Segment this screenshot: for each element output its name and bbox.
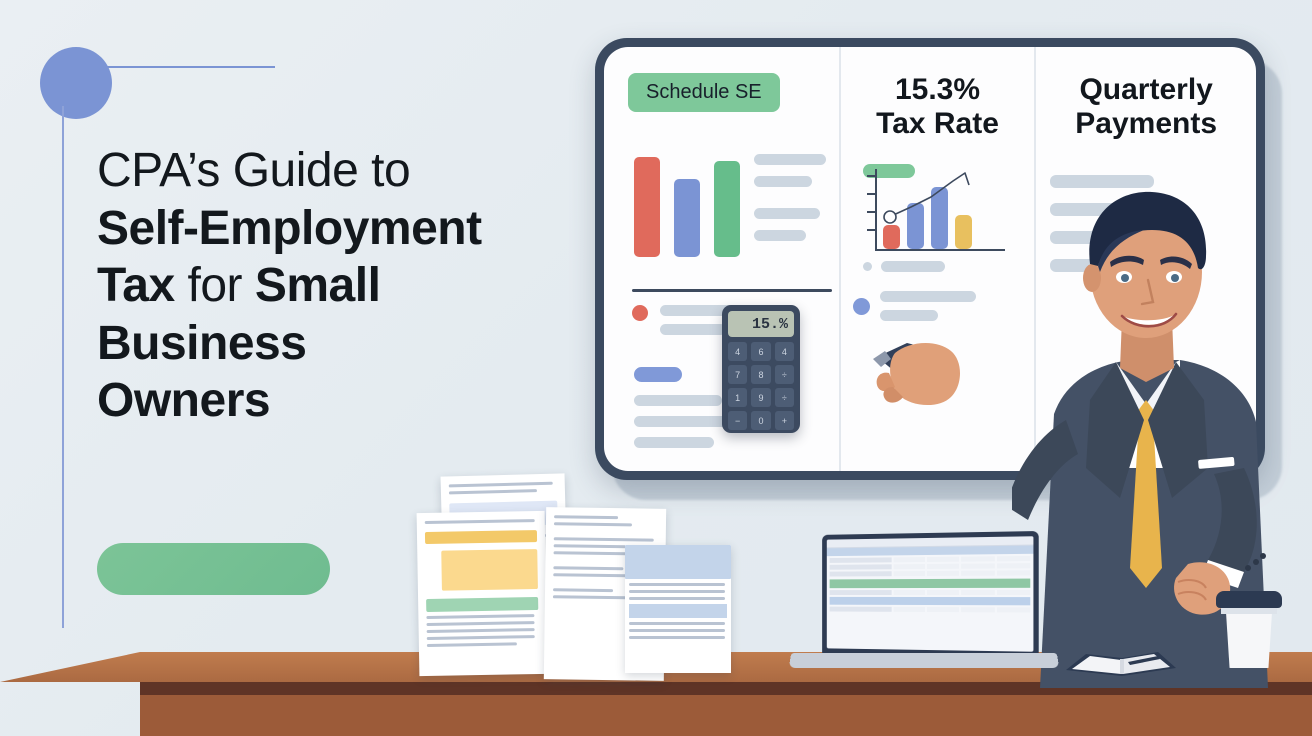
schedule-se-text-lines xyxy=(754,154,826,241)
title-line-5: Owners xyxy=(97,372,567,430)
bar-blue xyxy=(674,179,700,257)
placeholder-line xyxy=(427,628,535,633)
document-highlight-band xyxy=(425,530,537,544)
placeholder-line xyxy=(754,208,820,219)
placeholder-line xyxy=(754,230,806,241)
placeholder-line xyxy=(629,636,725,639)
tax-rate-line-2: Tax Rate xyxy=(876,107,999,140)
laptop-keyboard-base[interactable] xyxy=(789,653,1060,668)
placeholder-line xyxy=(634,395,722,406)
blue-dot-icon xyxy=(853,298,870,315)
laptop-display xyxy=(827,536,1034,651)
placeholder-line xyxy=(629,622,725,625)
title-line-3-a: Tax xyxy=(97,259,175,312)
bar-red xyxy=(634,157,660,257)
placeholder-line xyxy=(634,437,714,448)
calculator-key[interactable]: 1 xyxy=(728,388,747,407)
placeholder-line xyxy=(880,291,976,302)
quarterly-line-1: Quarterly xyxy=(1079,73,1212,106)
table-accent-row xyxy=(629,604,727,618)
tax-rate-caption-1 xyxy=(863,261,945,272)
calculator-key[interactable]: 6 xyxy=(751,342,770,361)
hand-with-marker-icon xyxy=(859,323,1009,433)
calculator-key[interactable]: 9 xyxy=(751,388,770,407)
calculator-key[interactable]: ÷ xyxy=(775,365,794,384)
placeholder-line xyxy=(754,154,826,165)
poster-canvas: CPA’s Guide to Self-Employment Tax for S… xyxy=(0,0,1312,736)
placeholder-line xyxy=(660,324,726,335)
placeholder-line xyxy=(427,635,535,640)
calculator-key[interactable]: + xyxy=(775,411,794,430)
calculator-key[interactable]: 0 xyxy=(751,411,770,430)
tax-rate-chart xyxy=(861,169,1003,251)
schedule-se-bar-chart xyxy=(634,157,740,257)
panel-tax-rate: 15.3% Tax Rate xyxy=(839,47,1035,471)
placeholder-line xyxy=(881,261,945,272)
spreadsheet-rows xyxy=(827,554,1034,615)
panel-schedule-se: Schedule SE xyxy=(604,47,839,471)
page-title: CPA’s Guide to Self-Employment Tax for S… xyxy=(97,142,567,430)
placeholder-line xyxy=(427,621,535,626)
title-line-4: Business xyxy=(97,315,567,373)
placeholder-line xyxy=(629,597,725,600)
title-line-2: Self-Employment xyxy=(97,200,567,258)
calculator-key[interactable]: 7 xyxy=(728,365,747,384)
placeholder-line xyxy=(553,566,623,570)
calculator-key[interactable]: ÷ xyxy=(775,388,794,407)
blue-circle-accent xyxy=(40,47,112,119)
document-content xyxy=(417,511,547,655)
quarterly-payments-heading: Quarterly Payments xyxy=(1054,73,1238,140)
open-notebook xyxy=(1062,648,1180,678)
placeholder-line xyxy=(425,519,535,524)
title-line-1: CPA’s Guide to xyxy=(97,142,567,200)
table-header xyxy=(625,545,731,579)
tax-form-highlighted xyxy=(417,511,548,676)
tax-rate-line-1: 15.3% xyxy=(895,73,980,106)
tax-rate-heading: 15.3% Tax Rate xyxy=(859,73,1017,140)
chart-data-marker xyxy=(884,211,896,223)
placeholder-line xyxy=(449,489,537,494)
chart-trend-line xyxy=(861,169,1003,251)
quarterly-line-2: Payments xyxy=(1075,107,1217,140)
calculator-key[interactable]: − xyxy=(728,411,747,430)
placeholder-line xyxy=(629,629,725,632)
red-dot-icon xyxy=(632,305,648,321)
placeholder-line xyxy=(629,583,725,586)
placeholder-line xyxy=(554,515,618,519)
calculator-display: 15.% xyxy=(728,311,794,337)
placeholder-line xyxy=(754,176,812,187)
horizontal-rule-accent xyxy=(104,66,275,68)
tax-table-blue xyxy=(625,545,731,673)
green-pill-accent xyxy=(97,543,330,595)
placeholder-line xyxy=(449,482,553,488)
laptop-spreadsheet[interactable] xyxy=(822,531,1039,657)
blue-pill-marker xyxy=(634,367,682,382)
placeholder-line xyxy=(629,590,725,593)
divider-rule xyxy=(632,289,832,292)
desk-front xyxy=(140,695,1312,736)
calculator-key[interactable]: 4 xyxy=(775,342,794,361)
title-line-3-c: Small xyxy=(255,259,381,312)
document-highlight-box xyxy=(441,549,538,591)
title-line-3-b: for xyxy=(188,259,243,312)
bar-green xyxy=(714,161,740,257)
caption-lines xyxy=(880,291,976,321)
placeholder-line xyxy=(426,614,534,619)
table-body xyxy=(625,579,731,643)
placeholder-line xyxy=(554,522,632,526)
calculator-key[interactable]: 4 xyxy=(728,342,747,361)
spreadsheet-selected-row xyxy=(830,597,1031,605)
calculator-keypad[interactable]: 4 6 4 7 8 ÷ 1 9 ÷ − 0 + xyxy=(728,342,794,430)
calculator-key[interactable]: 8 xyxy=(751,365,770,384)
placeholder-line xyxy=(554,537,654,541)
document-table-header xyxy=(426,597,538,612)
placeholder-line xyxy=(427,642,517,647)
small-dot-icon xyxy=(863,262,872,271)
placeholder-line xyxy=(553,588,613,592)
coffee-cup-lid xyxy=(1216,591,1282,608)
vertical-rule-accent xyxy=(62,106,64,628)
schedule-se-badge: Schedule SE xyxy=(628,73,780,112)
placeholder-line xyxy=(880,310,938,321)
title-line-3: Tax for Small xyxy=(97,257,567,315)
tax-rate-caption-2 xyxy=(853,291,976,321)
spreadsheet-accent-row xyxy=(830,579,1031,589)
calculator[interactable]: 15.% 4 6 4 7 8 ÷ 1 9 ÷ − 0 + xyxy=(722,305,800,433)
